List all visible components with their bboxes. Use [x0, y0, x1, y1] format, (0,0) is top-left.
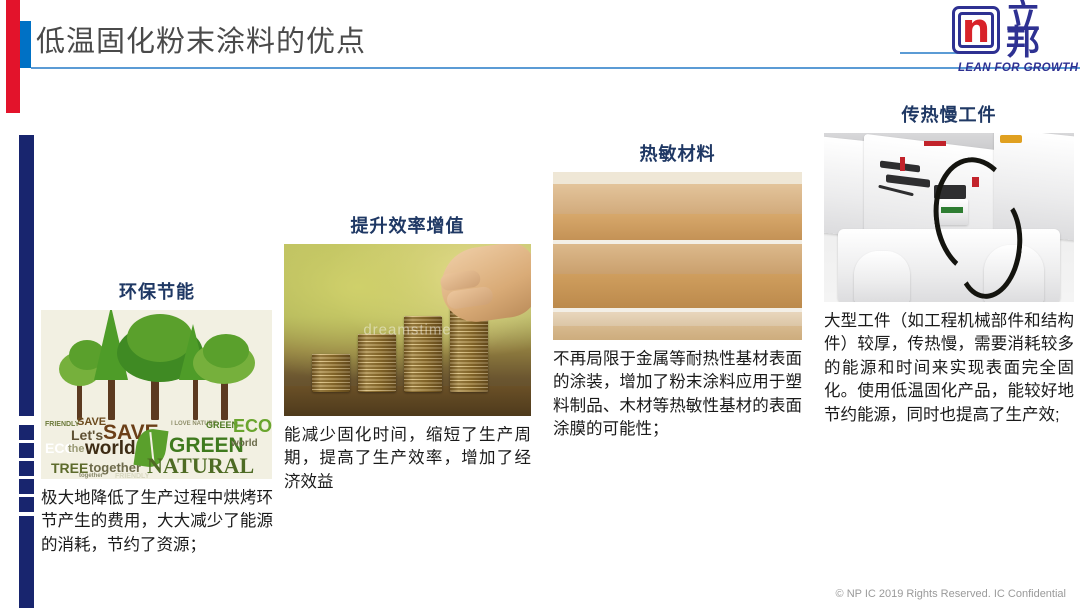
logo-cn-char-2: 邦 — [1006, 30, 1040, 56]
machine-orange-marker — [1000, 135, 1022, 143]
white-machinery-workpiece-image — [824, 133, 1074, 302]
column-2: 提升效率增值 dreamstime 能减少固化时间，缩短了生产周期，提高了生产效… — [284, 212, 531, 494]
header-blue-accent-block — [20, 21, 31, 68]
coin-stack-1 — [312, 354, 350, 392]
word-world: world — [85, 439, 136, 458]
tree-foliage-5b — [203, 334, 249, 368]
logo-chinese-name: 立 邦 — [1006, 4, 1040, 56]
word-natural: NATURAL — [147, 455, 254, 477]
page-title: 低温固化粉末涂料的优点 — [36, 18, 366, 60]
logo-underline-rule — [900, 52, 958, 54]
left-rail-dot-3 — [19, 461, 34, 476]
machine-roller-left — [854, 251, 910, 302]
header-divider-rule — [31, 67, 1080, 69]
word-together-small: together — [79, 473, 103, 479]
board-plank-3-top — [553, 312, 802, 326]
column-1-body-text: 极大地降低了生产过程中烘烤环节产生的费用，大大减少了能源的消耗，节约了资源； — [41, 487, 273, 557]
left-rail-bar-lower — [19, 516, 34, 608]
board-plank-2 — [553, 244, 802, 308]
coin-stack-2 — [358, 334, 396, 392]
board-plank-3-edge — [553, 326, 802, 340]
column-1: 环保节能 FRIENDLY SAVE Let's SAVE ECO — [41, 278, 273, 557]
word-friendly-small: FRIENDLY — [115, 473, 149, 479]
brand-logo: n 立 邦 LEAN FOR GROWTH — [952, 6, 1070, 82]
header-red-accent-bar — [6, 0, 20, 68]
logo-letter-n: n — [955, 5, 997, 53]
column-1-heading: 环保节能 — [41, 278, 273, 304]
tree-trunk-4 — [193, 374, 198, 420]
board-plank-1 — [553, 184, 802, 240]
coin-stacks-growth-image: dreamstime — [284, 244, 531, 416]
column-4: 传热慢工件 大型工件（如工程机械部件和结构件）较厚，传热慢，需要消耗较多的能源和… — [824, 101, 1074, 427]
board-plank-1-top — [553, 184, 802, 214]
left-rail-dot-4 — [19, 479, 34, 494]
slide-root: 低温固化粉末涂料的优点 n 立 邦 LEAN FOR GROWTH 环保节能 — [0, 0, 1080, 608]
board-plank-1-edge — [553, 214, 802, 240]
machine-red-marker-2 — [900, 157, 905, 171]
left-rail-dot-5 — [19, 497, 34, 512]
machine-red-marker-1 — [924, 141, 946, 146]
column-3-body-text: 不再局限于金属等耐热性基材表面的涂装，增加了粉末涂料应用于塑料制品、木材等热敏性… — [553, 348, 802, 442]
column-4-body-text: 大型工件（如工程机械部件和结构件）较厚，传热慢，需要消耗较多的能源和时间来实现表… — [824, 310, 1074, 427]
tree-trunk-3 — [151, 376, 159, 420]
eco-word-cloud: FRIENDLY SAVE Let's SAVE ECO the world T… — [41, 417, 272, 479]
header-red-accent-bar-lower — [6, 68, 20, 113]
footer-copyright: © NP IC 2019 Rights Reserved. IC Confide… — [836, 588, 1066, 600]
board-plank-3 — [553, 312, 802, 340]
image-watermark: dreamstime — [363, 322, 451, 339]
logo-tagline: LEAN FOR GROWTH — [958, 62, 1078, 74]
left-rail-dot-2 — [19, 443, 34, 458]
word-the: the — [68, 444, 85, 455]
column-3: 热敏材料 不再局限于金属等耐热性基材表面的涂装，增加了粉末涂料应用于塑料制品、木… — [553, 140, 802, 442]
column-3-heading: 热敏材料 — [553, 140, 802, 166]
word-eco-big: ECO — [233, 417, 272, 435]
nippon-paint-n-mark-icon: n — [952, 6, 1000, 54]
mdf-wood-boards-image — [553, 172, 802, 340]
board-plank-2-edge — [553, 274, 802, 308]
left-rail-dot-1 — [19, 425, 34, 440]
eco-green-trees-image: FRIENDLY SAVE Let's SAVE ECO the world T… — [41, 310, 272, 479]
board-plank-2-top — [553, 244, 802, 274]
column-4-heading: 传热慢工件 — [824, 101, 1074, 127]
column-2-body-text: 能减少固化时间，缩短了生产周期，提高了生产效率，增加了经济效益 — [284, 424, 531, 494]
word-world-small: world — [231, 439, 258, 449]
column-2-heading: 提升效率增值 — [284, 212, 531, 238]
left-rail-bar-upper — [19, 135, 34, 416]
